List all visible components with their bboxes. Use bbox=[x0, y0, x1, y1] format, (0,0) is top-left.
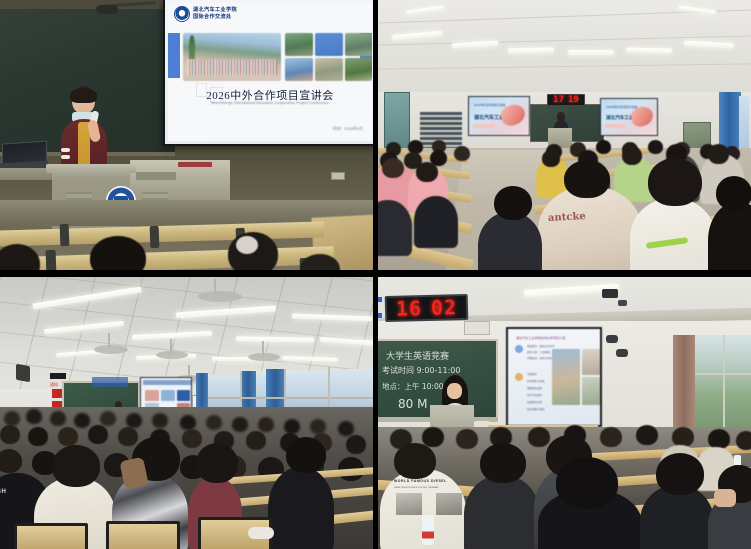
water-bottle bbox=[422, 515, 434, 545]
side-door bbox=[384, 92, 410, 150]
slide-bullet-text: 课程体系设置 bbox=[527, 386, 542, 390]
ceiling bbox=[378, 0, 751, 96]
clock-hours: 17 bbox=[553, 96, 564, 105]
presenter-face bbox=[447, 383, 462, 399]
foreground-head bbox=[494, 186, 532, 220]
collage-panel-top-right[interactable]: ‧ ‧ ‧ ‧ ‧ ‧ ‧ ‧ ‧ ‧ 2026中外合作项目宣讲会 湖北汽车工业… bbox=[373, 0, 751, 270]
blue-banner bbox=[92, 377, 128, 387]
student-head bbox=[528, 427, 550, 447]
projection-screen: 2026中外合作项目宣讲会 湖北汽车工业学院 bbox=[468, 96, 530, 136]
console-keypad bbox=[136, 172, 176, 180]
foreground-person bbox=[478, 212, 542, 270]
ceiling-fan bbox=[156, 351, 188, 359]
slide-accent-bar-left bbox=[168, 33, 180, 78]
slide-photo-tile bbox=[315, 33, 343, 56]
foreground-head bbox=[480, 443, 526, 483]
projector bbox=[602, 289, 618, 298]
university-crest-icon bbox=[174, 6, 190, 22]
slide-bullet-text: 学费标准：中外合作办学 bbox=[527, 356, 555, 360]
scene-large-lecture-hall: 通知 bbox=[0, 277, 373, 549]
student-head bbox=[180, 415, 196, 430]
slide-header-bar bbox=[143, 380, 191, 385]
clock-indicator bbox=[378, 313, 382, 318]
tshirt-photo-print bbox=[436, 493, 462, 515]
student-head bbox=[672, 427, 694, 447]
student-head bbox=[126, 413, 142, 428]
collage-panel-bottom-left[interactable]: 通知 bbox=[0, 270, 373, 549]
slide-photo bbox=[552, 349, 580, 405]
chalk-line-1: 大学生英语竞赛 bbox=[386, 349, 449, 362]
window-mullion bbox=[208, 397, 373, 399]
foreground-head bbox=[716, 176, 751, 210]
student-head bbox=[382, 158, 404, 178]
tshirt-graphic-subtext: DIESEL INDUSTRY SINCE 1978 ONLY THE BRAV… bbox=[394, 487, 438, 489]
digital-clock: 16 02 bbox=[385, 294, 469, 322]
slide-bullet-icon bbox=[515, 345, 523, 353]
student-head bbox=[4, 411, 20, 426]
window bbox=[739, 96, 749, 148]
slide-title: 湖北汽车工业学院合作办学项目介绍 bbox=[516, 335, 566, 340]
clock-indicator bbox=[378, 297, 382, 302]
student-head bbox=[88, 425, 108, 444]
foreground-head bbox=[52, 445, 100, 487]
ceiling-light bbox=[568, 50, 614, 55]
wall-speaker-icon bbox=[606, 335, 618, 343]
student-head bbox=[26, 409, 42, 424]
student-head bbox=[708, 144, 729, 164]
student-head bbox=[310, 419, 326, 434]
clock-minutes: 19 bbox=[568, 96, 579, 105]
slide-badge bbox=[605, 124, 625, 128]
presenter-hair bbox=[70, 88, 97, 103]
student-head bbox=[50, 411, 66, 426]
chalk-line-4: 80 M bbox=[398, 397, 427, 411]
ceiling-fan bbox=[94, 345, 128, 354]
slide-content: 湖北汽车工业学院 国际合作交流处 2026中外合作项目宣讲会 Sino-Fore… bbox=[168, 3, 372, 141]
student-head bbox=[454, 146, 470, 161]
photo-collage: 湖北汽车工业学院 国际合作交流处 2026中外合作项目宣讲会 Sino-Fore… bbox=[0, 0, 751, 549]
student-head bbox=[338, 421, 354, 436]
led-notice-sign: 通知 bbox=[50, 373, 66, 379]
student-head bbox=[0, 425, 20, 444]
student-head bbox=[648, 140, 663, 154]
clock-minutes: 02 bbox=[431, 297, 458, 318]
camera-icon bbox=[618, 300, 627, 306]
chalk-line-2: 考试时间 9:00-11:00 bbox=[382, 365, 460, 376]
student-head bbox=[622, 146, 642, 165]
student-head bbox=[736, 431, 751, 450]
foreground-head bbox=[564, 160, 610, 198]
student-head bbox=[0, 449, 22, 473]
slide-bullet-text: 出国留学途径 bbox=[527, 400, 542, 404]
student-head bbox=[456, 429, 478, 449]
slide-bullet-text: 就业前景与深造 bbox=[527, 407, 545, 411]
slide-bullet-text: 项目简介：国际合作办学 bbox=[527, 344, 555, 348]
tshirt-graphic-text: WORLD FAMOUS DIESEL bbox=[394, 479, 447, 483]
scene-presenter-at-podium: 湖北汽车工业学院 国际合作交流处 2026中外合作项目宣讲会 Sino-Fore… bbox=[0, 0, 373, 270]
scene-english-contest-briefing: 16 02 大学生英语竞赛 考试时间 9:00-11:00 地点：上午 10:0… bbox=[378, 277, 751, 549]
student-head bbox=[258, 417, 274, 432]
foreground-head bbox=[196, 443, 238, 483]
projection-screen: 2026中外合作项目宣讲会 湖北汽车工业学院 bbox=[600, 98, 658, 136]
bench-bracket bbox=[46, 250, 57, 270]
student-head bbox=[708, 429, 730, 449]
window-mullion bbox=[723, 335, 725, 435]
foreground-person bbox=[268, 467, 334, 549]
bench-bracket bbox=[150, 226, 160, 248]
slide-group-photo bbox=[183, 33, 281, 81]
window-curtain bbox=[673, 335, 695, 431]
presenter-sleeve-stripe bbox=[61, 155, 70, 159]
foreground-head bbox=[286, 437, 326, 473]
ceiling-mic-icon bbox=[96, 5, 118, 14]
student-head bbox=[596, 140, 611, 154]
chalk-text: ‧ ‧ ‧ bbox=[536, 111, 540, 114]
foreground-head bbox=[656, 453, 704, 495]
led-text: 通知 bbox=[50, 382, 58, 387]
presenter-sleeve-stripe bbox=[61, 148, 70, 152]
ceiling-fan bbox=[198, 291, 242, 302]
slide-thumb bbox=[177, 390, 190, 401]
hair-scrunchie bbox=[236, 236, 258, 254]
student-head bbox=[152, 413, 168, 428]
ceiling-fan bbox=[248, 353, 280, 361]
projection-screen: 湖北汽车工业学院合作办学项目介绍 项目简介：国际合作办学 招生计划：工商管理、机… bbox=[506, 327, 602, 427]
slide-photo-tile bbox=[345, 58, 372, 81]
student-dark-jacket bbox=[414, 196, 458, 248]
clock-hours: 16 bbox=[396, 298, 423, 319]
student-head bbox=[246, 431, 266, 450]
foreground-head bbox=[394, 443, 436, 479]
slide-date-note: 时间：2025年5月 bbox=[333, 126, 363, 132]
student-head bbox=[232, 417, 248, 432]
hoodie-graphic-text: antcke bbox=[548, 211, 586, 224]
slide-logo-line1: 湖北汽车工业学院 bbox=[193, 6, 237, 13]
slide-photo bbox=[582, 349, 600, 375]
shoe bbox=[248, 527, 274, 539]
slide-photo-tile bbox=[345, 33, 372, 56]
student-head bbox=[284, 419, 300, 434]
student-head bbox=[58, 427, 78, 446]
student-head bbox=[600, 427, 622, 447]
slide-photo-tile bbox=[285, 58, 313, 81]
foreground-hoodie bbox=[538, 186, 642, 270]
bench-bracket bbox=[60, 224, 70, 246]
foreground-person bbox=[464, 475, 540, 549]
slide-thumb bbox=[161, 390, 175, 401]
student-head bbox=[74, 413, 90, 428]
foreground-head bbox=[648, 158, 702, 206]
wall-box bbox=[464, 321, 490, 335]
student-head bbox=[542, 150, 560, 167]
collage-panel-top-left[interactable]: 湖北汽车工业学院 国际合作交流处 2026中外合作项目宣讲会 Sino-Fore… bbox=[0, 0, 373, 270]
student-head bbox=[346, 435, 366, 454]
slide-photo bbox=[582, 377, 600, 405]
slide-thumb bbox=[145, 390, 159, 401]
student-head bbox=[28, 427, 48, 446]
foreground-head bbox=[556, 457, 618, 509]
hoodie-graphic-text: ASH bbox=[0, 489, 6, 495]
hand bbox=[714, 489, 736, 507]
console-red-panel bbox=[178, 162, 212, 167]
slide-photo-tile bbox=[315, 58, 343, 81]
wall-outlet-icon bbox=[331, 172, 345, 180]
slide-bullet-text: 学校简介 bbox=[527, 372, 537, 376]
slide-kicker: 2026中外合作项目宣讲会 bbox=[474, 103, 505, 107]
seat-back bbox=[14, 523, 88, 549]
scene-wide-classroom: ‧ ‧ ‧ ‧ ‧ ‧ ‧ ‧ ‧ ‧ 2026中外合作项目宣讲会 湖北汽车工业… bbox=[378, 0, 751, 270]
tshirt-photo-print bbox=[396, 493, 422, 515]
student-head bbox=[182, 429, 202, 448]
collage-panel-bottom-right[interactable]: 16 02 大学生英语竞赛 考试时间 9:00-11:00 地点：上午 10:0… bbox=[373, 270, 751, 549]
slide-bullet-text: 办学优势与特色 bbox=[527, 379, 545, 383]
seat-back bbox=[106, 521, 180, 549]
slide-bullet-text: 学历学位授予 bbox=[527, 393, 542, 397]
chalk-line-3: 地点：上午 10:00 bbox=[382, 381, 444, 392]
slide-subtitle: Sino-Foreign International Education Coo… bbox=[211, 101, 329, 105]
slide-kicker: 2026中外合作项目宣讲会 bbox=[606, 105, 637, 109]
digital-clock: 17 19 bbox=[547, 94, 585, 106]
student-head bbox=[636, 425, 658, 445]
student-head bbox=[118, 427, 138, 446]
student-head bbox=[100, 411, 116, 426]
projection-screen: 湖北汽车工业学院 国际合作交流处 2026中外合作项目宣讲会 Sino-Fore… bbox=[163, 0, 373, 146]
wall-speaker-icon bbox=[616, 349, 628, 357]
student-head bbox=[422, 427, 444, 447]
slide-photo-tile bbox=[285, 33, 313, 56]
student-head bbox=[416, 162, 438, 182]
foreground-shirt bbox=[630, 198, 716, 270]
wall-speaker-icon bbox=[16, 364, 30, 382]
student-head bbox=[206, 415, 222, 430]
slide-badge bbox=[473, 124, 495, 128]
slide-logo-line2: 国际合作交流处 bbox=[193, 13, 231, 20]
slide-bullet-icon bbox=[515, 373, 523, 381]
